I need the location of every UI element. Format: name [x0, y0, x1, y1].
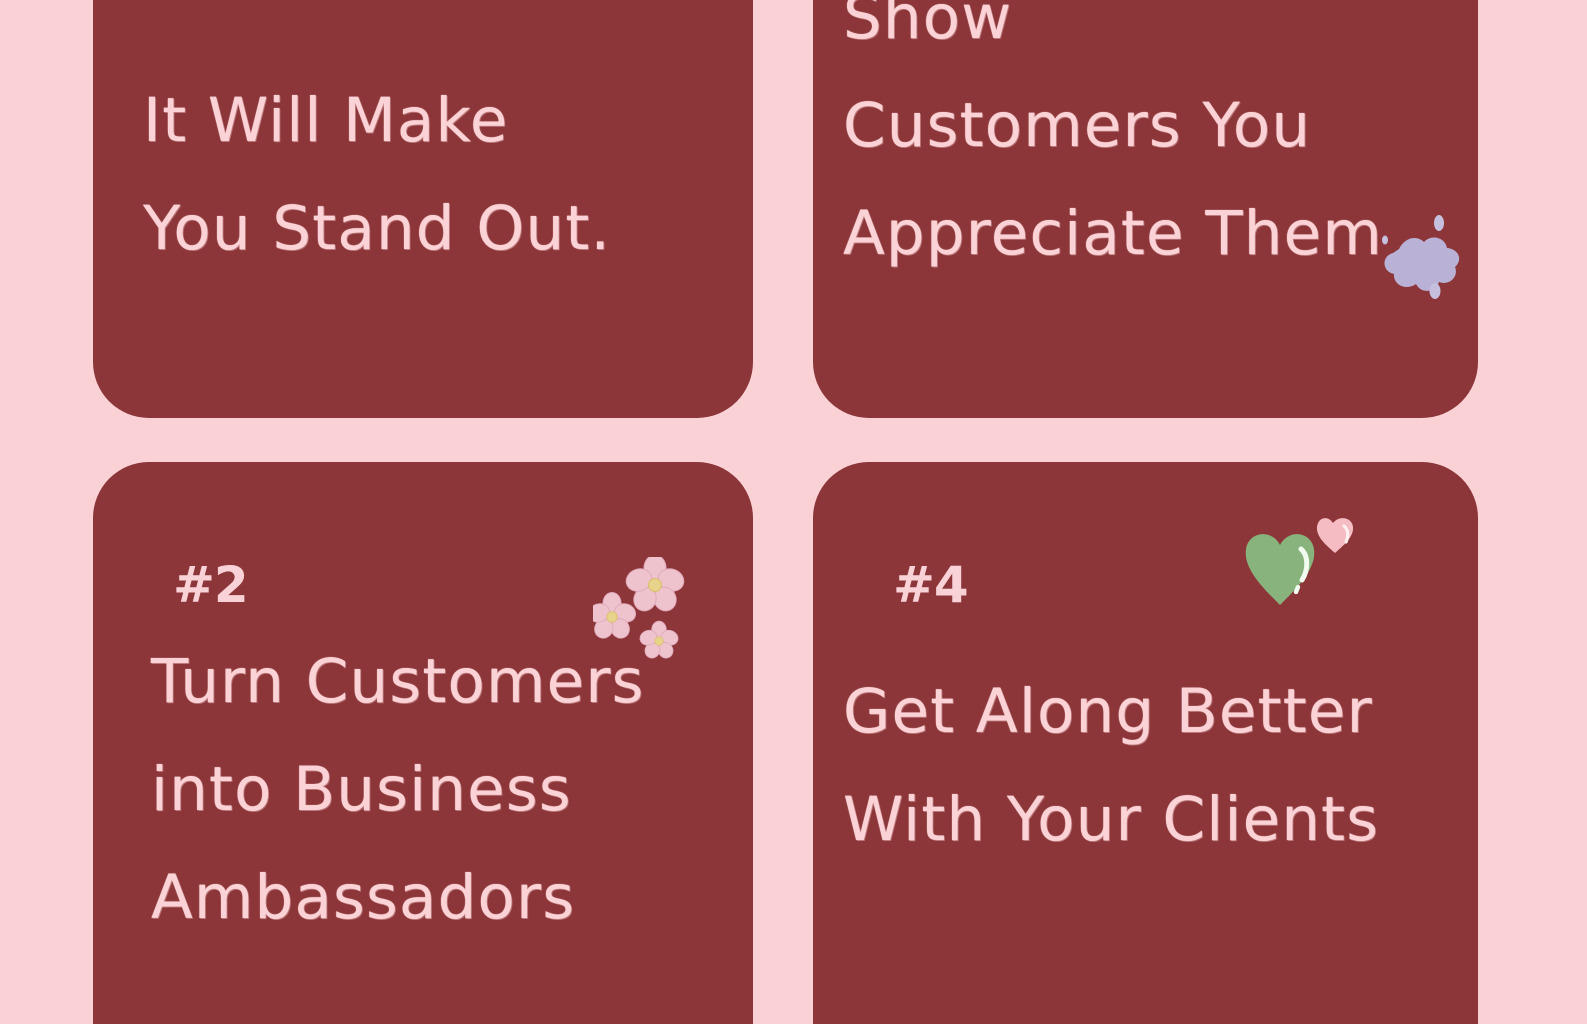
card-headline: Get Along Better With Your Clients — [843, 658, 1379, 874]
card-rank-badge: #4 — [893, 560, 968, 610]
poster-canvas: It Will Make You Stand Out. Show Custome… — [0, 0, 1587, 1024]
card-headline: Turn Customers into Business Ambassadors — [151, 628, 645, 952]
paint-splat-icon — [1369, 215, 1465, 301]
card-top-right: Show Customers You Appreciate Them — [813, 0, 1478, 418]
hearts-icon — [1238, 517, 1358, 617]
card-headline: Show Customers You Appreciate Them — [843, 0, 1383, 288]
card-bottom-left: #2 Turn Customers into Business Ambassad… — [93, 462, 753, 1024]
card-top-left: It Will Make You Stand Out. — [93, 0, 753, 418]
card-rank-badge: #2 — [173, 560, 248, 610]
card-headline: It Will Make You Stand Out. — [143, 67, 611, 283]
card-bottom-right: #4 Get Along Better With Your Clients — [813, 462, 1478, 1024]
